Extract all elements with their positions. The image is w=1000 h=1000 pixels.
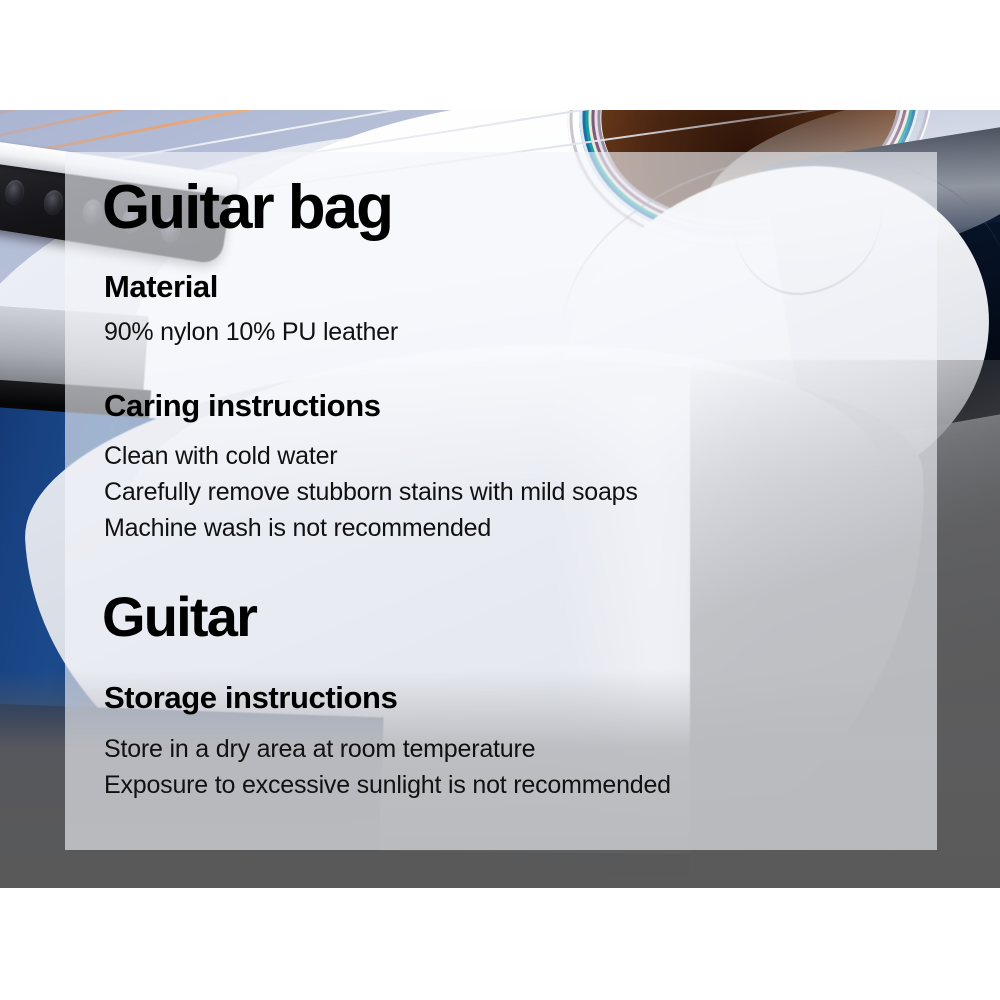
heading-caring-instructions: Caring instructions xyxy=(104,388,381,424)
caring-instruction-line: Machine wash is not recommended xyxy=(104,514,491,543)
heading-storage-instructions: Storage instructions xyxy=(104,680,397,716)
panel-title-guitar-bag: Guitar bag xyxy=(102,177,392,239)
heading-material: Material xyxy=(104,269,218,305)
caring-instruction-line: Clean with cold water xyxy=(104,442,337,471)
panel-title-guitar: Guitar xyxy=(102,589,256,645)
caring-instruction-line: Carefully remove stubborn stains with mi… xyxy=(104,478,638,507)
poster-canvas: Guitar bag Material 90% nylon 10% PU lea… xyxy=(0,0,1000,1000)
material-value: 90% nylon 10% PU leather xyxy=(104,318,398,347)
storage-instruction-line: Store in a dry area at room temperature xyxy=(104,735,535,764)
info-panel: Guitar bag Material 90% nylon 10% PU lea… xyxy=(65,152,937,850)
bridge-pin xyxy=(3,179,26,207)
bridge-pin xyxy=(42,189,65,217)
storage-instruction-line: Exposure to excessive sunlight is not re… xyxy=(104,771,671,800)
